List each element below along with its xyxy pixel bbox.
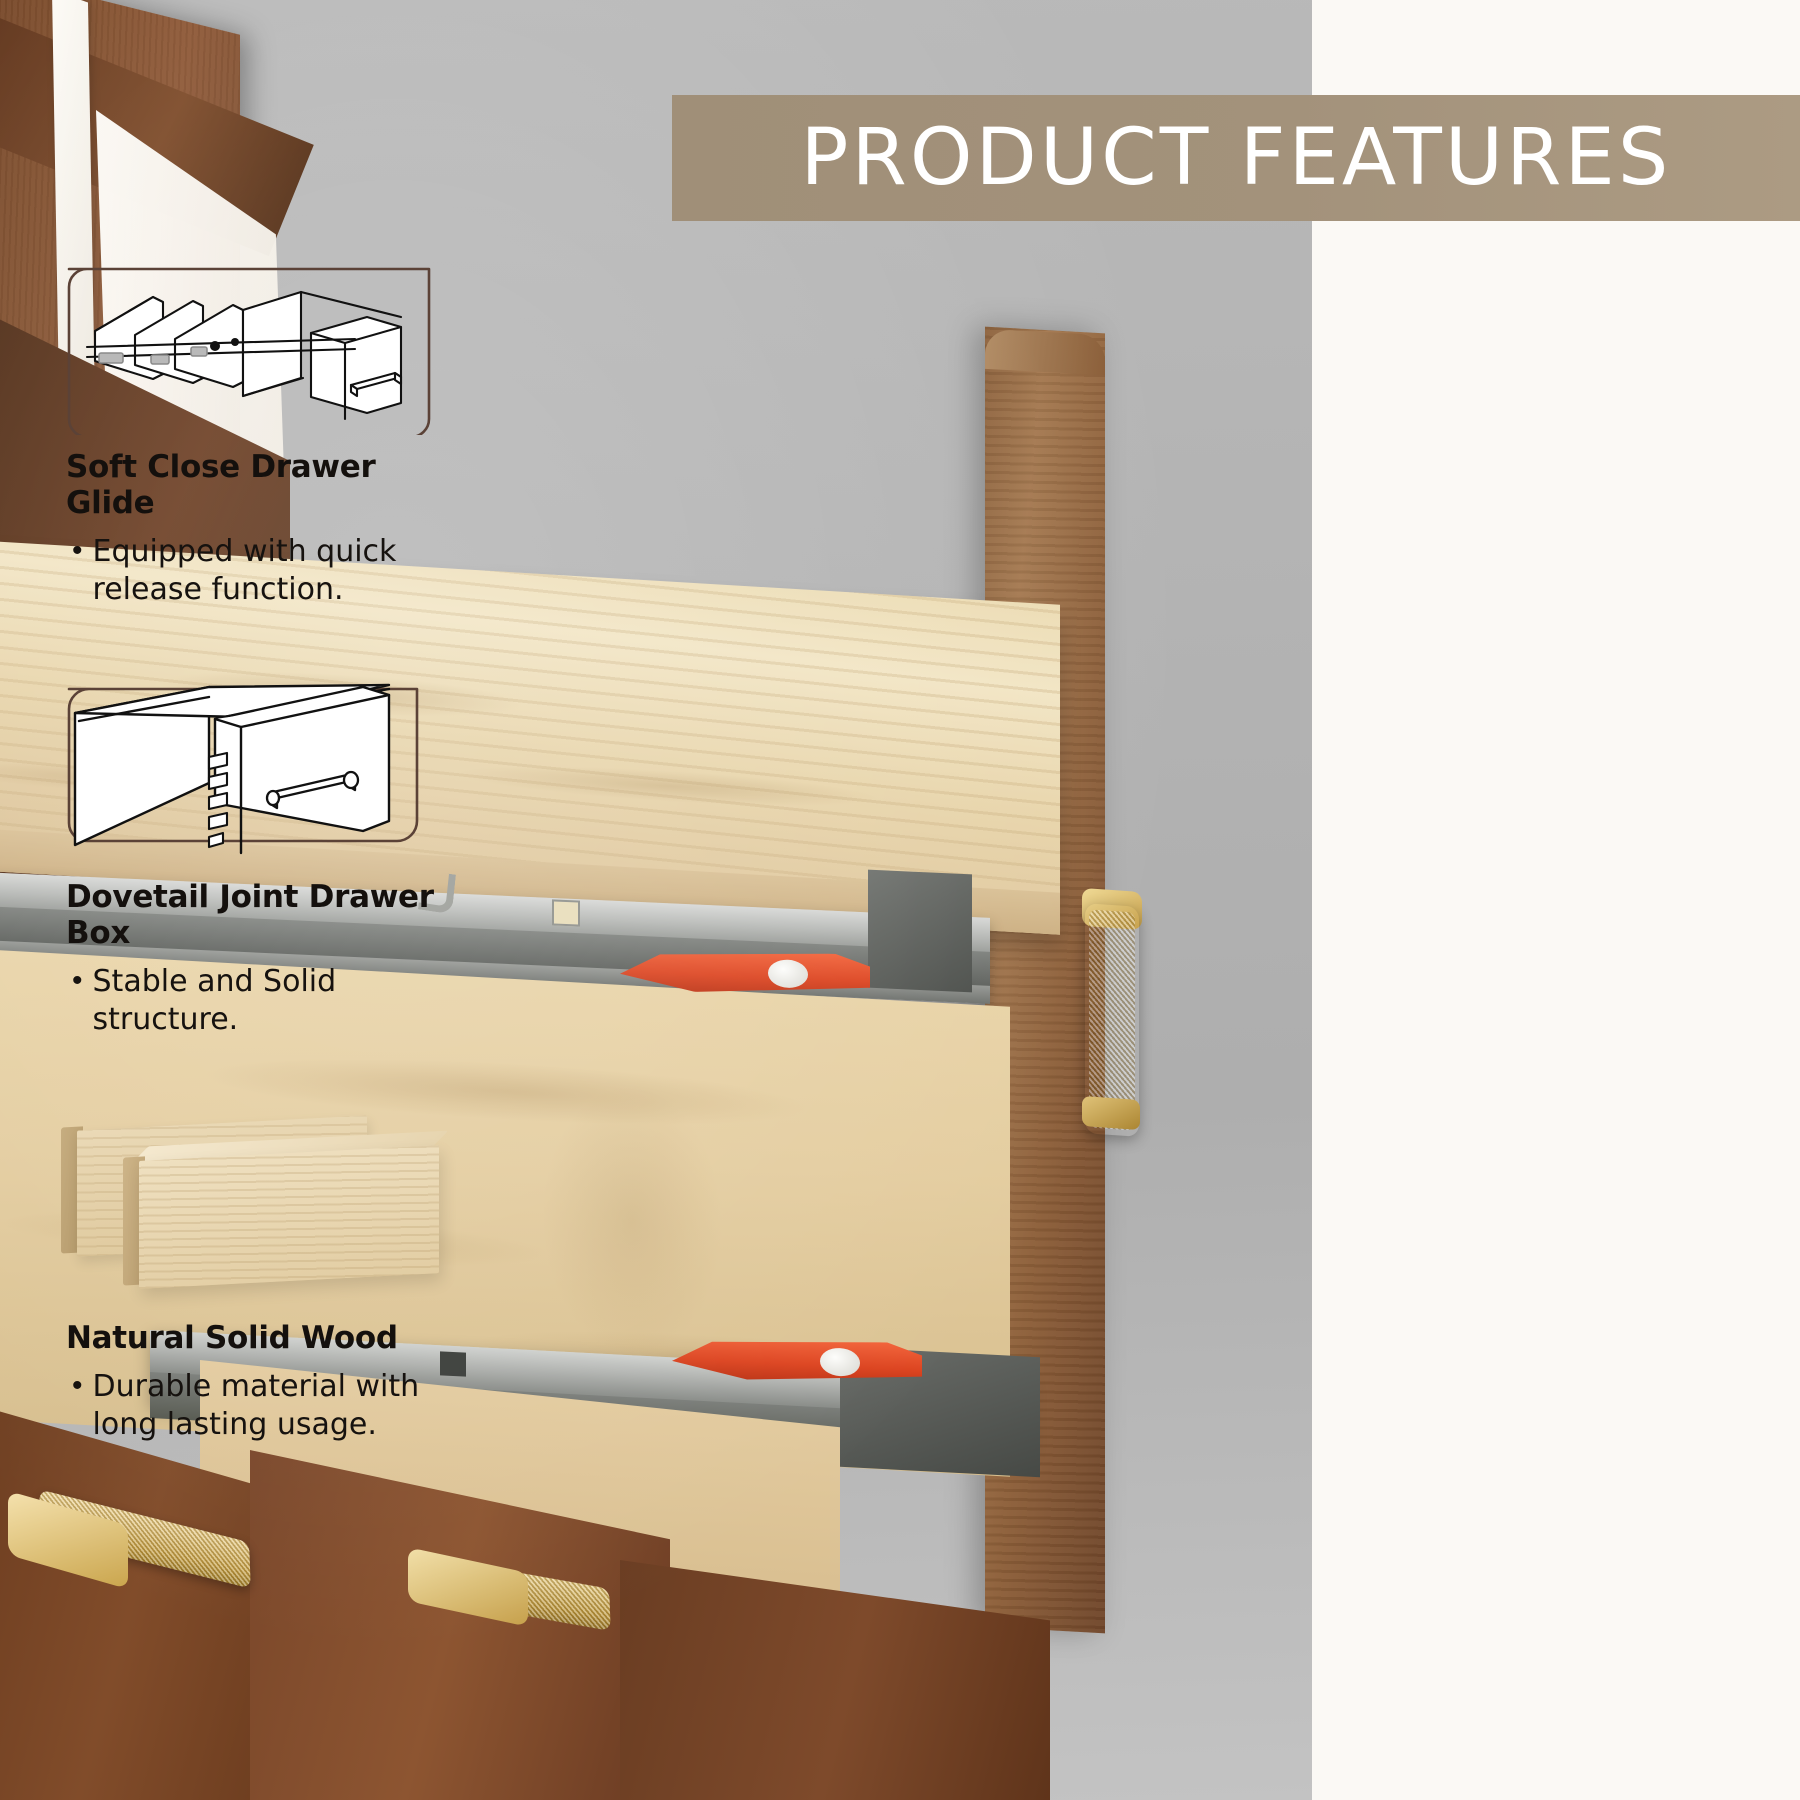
drawer-glide-line-icon <box>39 235 459 435</box>
brass-handle-foot <box>1082 1096 1140 1130</box>
slide-rail-tab <box>552 899 580 926</box>
feature-title: Dovetail Joint Drawer Box <box>66 879 470 951</box>
feature-soft-close-drawer-glide: Soft Close Drawer Glide • Equipped with … <box>0 235 488 609</box>
page-title-banner: PRODUCT FEATURES <box>672 95 1800 221</box>
feature-list: Soft Close Drawer Glide • Equipped with … <box>0 235 488 1444</box>
lever-white-button-top <box>768 959 808 989</box>
bullet-marker: • <box>72 963 83 1039</box>
wood-planks-photo-icon <box>39 1101 459 1306</box>
walnut-post-rounded-top <box>985 329 1105 375</box>
bullet-text: Stable and Solid structure. <box>93 963 462 1039</box>
bullet-marker: • <box>72 1368 83 1444</box>
features-panel <box>1312 0 1800 1800</box>
lever-white-button-bottom <box>820 1347 860 1377</box>
feature-title: Natural Solid Wood <box>66 1320 470 1356</box>
wood-plank-front <box>139 1145 439 1289</box>
feature-gap-1 <box>0 609 488 665</box>
bullet-marker: • <box>72 533 83 609</box>
feature-title: Soft Close Drawer Glide <box>66 449 470 521</box>
bullet-text: Equipped with quick release function. <box>93 533 462 609</box>
feature-bullet: • Stable and Solid structure. <box>72 963 462 1039</box>
feature-gap-2 <box>0 1039 488 1101</box>
feature-bullet: • Equipped with quick release function. <box>72 533 462 609</box>
infographic-canvas: PRODUCT FEATURES <box>0 0 1800 1800</box>
page-title: PRODUCT FEATURES <box>801 119 1672 197</box>
bullet-text: Durable material with long lasting usage… <box>93 1368 462 1444</box>
feature-dovetail-joint-drawer-box: Dovetail Joint Drawer Box • Stable and S… <box>0 665 488 1039</box>
feature-bullet: • Durable material with long lasting usa… <box>72 1368 462 1444</box>
feature-natural-solid-wood: Natural Solid Wood • Durable material wi… <box>0 1101 488 1444</box>
slide-rail-mechanism-block <box>868 870 972 993</box>
dovetail-drawer-box-line-icon <box>39 665 459 865</box>
